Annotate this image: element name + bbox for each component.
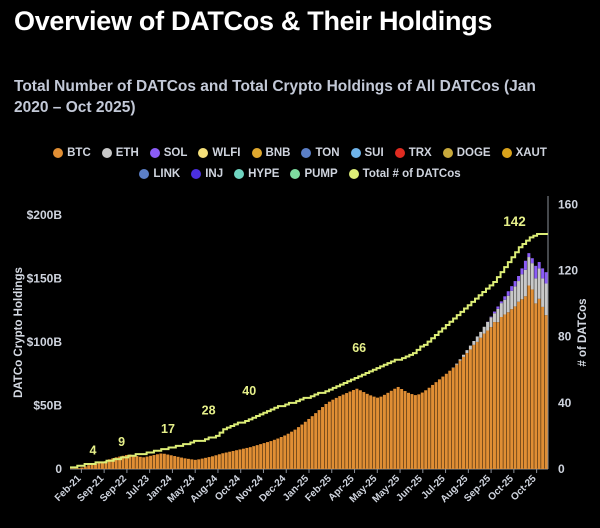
bar-segment-btc: [366, 394, 369, 469]
bar-segment-sol: [510, 286, 513, 291]
bar-segment-btc: [431, 385, 434, 469]
bar-segment-btc: [132, 455, 135, 469]
chart-page: Overview of DATCos & Their Holdings Tota…: [0, 0, 600, 528]
bar-segment-btc: [496, 322, 499, 469]
bar-segment-btc: [297, 427, 300, 469]
bar-segment-btc: [362, 392, 365, 469]
bar-segment-btc: [163, 454, 166, 469]
bar-segment-btc: [245, 448, 248, 469]
bar-segment-eth: [503, 300, 506, 315]
bar-segment-eth: [459, 359, 462, 360]
bar-segment-btc: [170, 455, 173, 469]
bar-segment-btc: [455, 365, 458, 469]
chart-svg: 0$50B$100B$150B$200B04080120160DATCo Cry…: [0, 0, 600, 528]
bar-segment-btc: [541, 307, 544, 469]
bar-segment-btc: [228, 452, 231, 469]
bar-segment-btc: [417, 394, 420, 469]
y2-axis-tick-label: 0: [558, 462, 565, 476]
bar-segment-btc: [218, 454, 221, 469]
bar-segment-btc: [545, 315, 548, 469]
bar-segment-eth: [500, 303, 503, 317]
bar-segment-btc: [383, 395, 386, 469]
bar-segment-btc: [335, 398, 338, 469]
bar-segment-btc: [225, 452, 228, 469]
bar-segment-btc: [249, 447, 252, 469]
y2-axis-tick-label: 80: [558, 330, 572, 344]
bar-segment-btc: [239, 449, 242, 469]
x-axis-tick-label: Oct-25: [509, 473, 539, 503]
bar-segment-eth: [483, 327, 486, 334]
bar-segment-btc: [280, 437, 283, 469]
bar-segment-btc: [345, 393, 348, 469]
bar-segment-btc: [98, 463, 101, 469]
bar-segment-btc: [211, 456, 214, 469]
bar-segment-sol: [538, 262, 541, 268]
bar-segment-btc: [421, 393, 424, 469]
bar-segment-btc: [166, 455, 169, 469]
bar-segment-btc: [263, 443, 266, 469]
bar-segment-sol: [514, 281, 517, 286]
bar-segment-btc: [173, 456, 176, 469]
bar-segment-btc: [269, 441, 272, 469]
bar-segment-btc: [472, 345, 475, 469]
bar-segment-eth: [524, 270, 527, 296]
bar-segment-sol: [490, 317, 493, 318]
bar-segment-sol: [541, 268, 544, 278]
bar-segment-btc: [135, 456, 138, 469]
bar-segment-btc: [507, 312, 510, 469]
bar-segment-eth: [545, 283, 548, 315]
bar-segment-btc: [252, 446, 255, 469]
y-axis-title: DATCo Crypto Holdings: [13, 267, 25, 398]
bar-segment-btc: [321, 407, 324, 469]
line-annotation-142: 142: [503, 214, 526, 229]
bar-segment-btc: [534, 303, 537, 469]
bar-segment-btc: [397, 387, 400, 469]
y-axis-tick-label: $200B: [27, 208, 63, 222]
y2-axis-tick-label: 160: [558, 197, 578, 211]
bar-segment-eth: [472, 341, 475, 345]
bar-segment-btc: [304, 422, 307, 469]
bar-segment-btc: [531, 289, 534, 469]
bar-segment-sol: [496, 306, 499, 308]
bar-segment-btc: [393, 389, 396, 469]
bar-segment-eth: [490, 317, 493, 327]
bar-segment-eth: [476, 336, 479, 341]
bar-segment-btc: [146, 457, 149, 469]
bar-segment-btc: [156, 454, 159, 469]
bar-segment-btc: [259, 444, 262, 469]
line-annotation-4: 4: [89, 443, 96, 457]
bar-segment-btc: [524, 296, 527, 469]
bar-segment-btc: [527, 285, 530, 469]
bar-segment-eth: [507, 296, 510, 313]
bar-segment-btc: [294, 430, 297, 469]
bar-segment-btc: [404, 391, 407, 469]
bar-segment-btc: [448, 371, 451, 469]
bar-segment-eth: [520, 274, 523, 299]
bar-segment-btc: [490, 327, 493, 469]
bar-segment-eth: [465, 350, 468, 353]
bar-segment-sol: [524, 261, 527, 270]
bar-segment-btc: [414, 395, 417, 469]
bar-segment-btc: [338, 396, 341, 469]
bar-segment-btc: [256, 445, 259, 469]
bar-segment-btc: [177, 457, 180, 469]
bar-segment-eth: [493, 313, 496, 322]
bar-segment-eth: [538, 268, 541, 298]
bar-segment-eth: [510, 291, 513, 309]
x-axis-tick-label: Jun-25: [394, 473, 425, 504]
bar-segment-btc: [469, 349, 472, 469]
bar-segment-btc: [153, 455, 156, 469]
bar-segment-btc: [324, 404, 327, 469]
bar-segment-btc: [91, 464, 94, 469]
bar-segment-btc: [242, 449, 245, 469]
bar-segment-btc: [276, 439, 279, 469]
bar-segment-btc: [84, 466, 87, 469]
chart-plot-area: 0$50B$100B$150B$200B04080120160DATCo Cry…: [0, 0, 600, 528]
bar-segment-btc: [510, 309, 513, 469]
bar-segment-btc: [283, 435, 286, 469]
bar-segment-eth: [496, 309, 499, 322]
bar-segment-btc: [159, 454, 162, 469]
bar-segment-btc: [235, 450, 238, 469]
line-annotation-40: 40: [242, 384, 256, 398]
bar-segment-eth: [514, 286, 517, 306]
bar-segment-btc: [221, 453, 224, 469]
bar-segment-eth: [455, 364, 458, 365]
bar-segment-btc: [500, 317, 503, 469]
bar-segment-btc: [459, 361, 462, 469]
bar-segment-btc: [342, 395, 345, 469]
bar-segment-btc: [486, 330, 489, 469]
bar-segment-btc: [369, 395, 372, 469]
bar-segment-eth: [479, 332, 482, 338]
bar-segment-btc: [287, 434, 290, 469]
bar-segment-eth: [531, 263, 534, 289]
bar-segment-eth: [541, 278, 544, 307]
line-annotation-17: 17: [161, 422, 175, 436]
bar-segment-eth: [469, 346, 472, 350]
bar-segment-btc: [266, 442, 269, 469]
bar-segment-btc: [514, 306, 517, 469]
bar-segment-btc: [318, 410, 321, 469]
bar-segment-sol: [507, 291, 510, 295]
bar-segment-btc: [424, 390, 427, 469]
bar-segment-btc: [445, 374, 448, 469]
bar-segment-btc: [204, 458, 207, 469]
bar-segment-btc: [476, 342, 479, 469]
bar-segment-btc: [483, 334, 486, 469]
y-axis-tick-label: $100B: [27, 335, 63, 349]
bar-segment-btc: [352, 390, 355, 469]
bar-segment-btc: [493, 322, 496, 469]
stacked-bars-group: [70, 253, 548, 469]
bar-segment-btc: [462, 357, 465, 469]
bar-segment-btc: [139, 457, 142, 469]
bar-segment-eth: [517, 281, 520, 302]
bar-segment-btc: [273, 440, 276, 469]
bar-segment-btc: [390, 391, 393, 469]
bar-segment-btc: [441, 377, 444, 469]
bar-segment-btc: [80, 467, 83, 469]
bar-segment-sol: [520, 268, 523, 274]
bar-segment-eth: [527, 257, 530, 285]
bar-segment-sol: [503, 296, 506, 299]
bar-segment-btc: [520, 299, 523, 469]
bar-segment-btc: [183, 458, 186, 469]
bar-segment-btc: [359, 390, 362, 469]
bar-segment-sol: [545, 272, 548, 283]
bar-segment-btc: [452, 368, 455, 469]
bar-segment-eth: [534, 278, 537, 303]
bar-segment-btc: [428, 388, 431, 469]
bar-segment-btc: [180, 458, 183, 469]
bar-segment-btc: [517, 302, 520, 469]
bar-segment-sol: [517, 276, 520, 281]
bar-segment-btc: [435, 382, 438, 469]
bar-segment-btc: [328, 402, 331, 469]
bar-segment-btc: [349, 392, 352, 469]
bar-segment-btc: [149, 456, 152, 469]
bar-segment-btc: [73, 468, 76, 469]
bar-segment-btc: [503, 314, 506, 469]
bar-segment-btc: [201, 459, 204, 469]
bar-segment-btc: [407, 393, 410, 469]
bar-segment-btc: [208, 457, 211, 469]
bar-segment-btc: [331, 400, 334, 469]
bar-segment-sol: [534, 266, 537, 278]
line-annotation-66: 66: [352, 341, 366, 355]
bar-segment-btc: [479, 338, 482, 469]
line-annotation-9: 9: [118, 435, 125, 449]
y-axis-tick-label: $150B: [27, 272, 63, 286]
bar-segment-btc: [232, 451, 235, 469]
bar-segment-btc: [87, 465, 90, 469]
bar-segment-btc: [214, 455, 217, 469]
bar-segment-btc: [465, 353, 468, 469]
bar-segment-btc: [311, 416, 314, 469]
bar-segment-eth: [462, 355, 465, 357]
y2-axis-tick-label: 120: [558, 263, 578, 277]
bar-segment-sol: [527, 253, 530, 257]
y2-axis-tick-label: 40: [558, 396, 572, 410]
bar-segment-btc: [410, 394, 413, 469]
y-axis-tick-label: 0: [55, 462, 62, 476]
bar-segment-btc: [355, 389, 358, 469]
bar-segment-btc: [290, 432, 293, 469]
bar-segment-btc: [77, 468, 80, 469]
bar-segment-btc: [142, 457, 145, 469]
bar-segment-btc: [194, 460, 197, 469]
y-axis-tick-label: $50B: [33, 399, 62, 413]
bar-segment-btc: [190, 459, 193, 469]
line-annotation-28: 28: [202, 404, 216, 418]
bar-segment-btc: [400, 389, 403, 469]
bar-segment-btc: [386, 393, 389, 469]
bar-segment-btc: [300, 425, 303, 469]
bar-segment-btc: [538, 299, 541, 469]
bar-segment-btc: [373, 397, 376, 469]
y2-axis-title: # of DATCos: [577, 298, 589, 366]
bar-segment-btc: [379, 397, 382, 469]
bar-segment-sol: [500, 301, 503, 303]
bar-segment-btc: [314, 413, 317, 469]
bar-segment-sol: [493, 312, 496, 314]
bar-segment-btc: [197, 459, 200, 469]
bar-segment-eth: [486, 322, 489, 331]
bar-segment-btc: [438, 379, 441, 469]
bar-segment-btc: [187, 459, 190, 469]
bar-segment-sol: [531, 258, 534, 263]
bar-segment-btc: [376, 398, 379, 469]
bar-segment-btc: [307, 419, 310, 469]
